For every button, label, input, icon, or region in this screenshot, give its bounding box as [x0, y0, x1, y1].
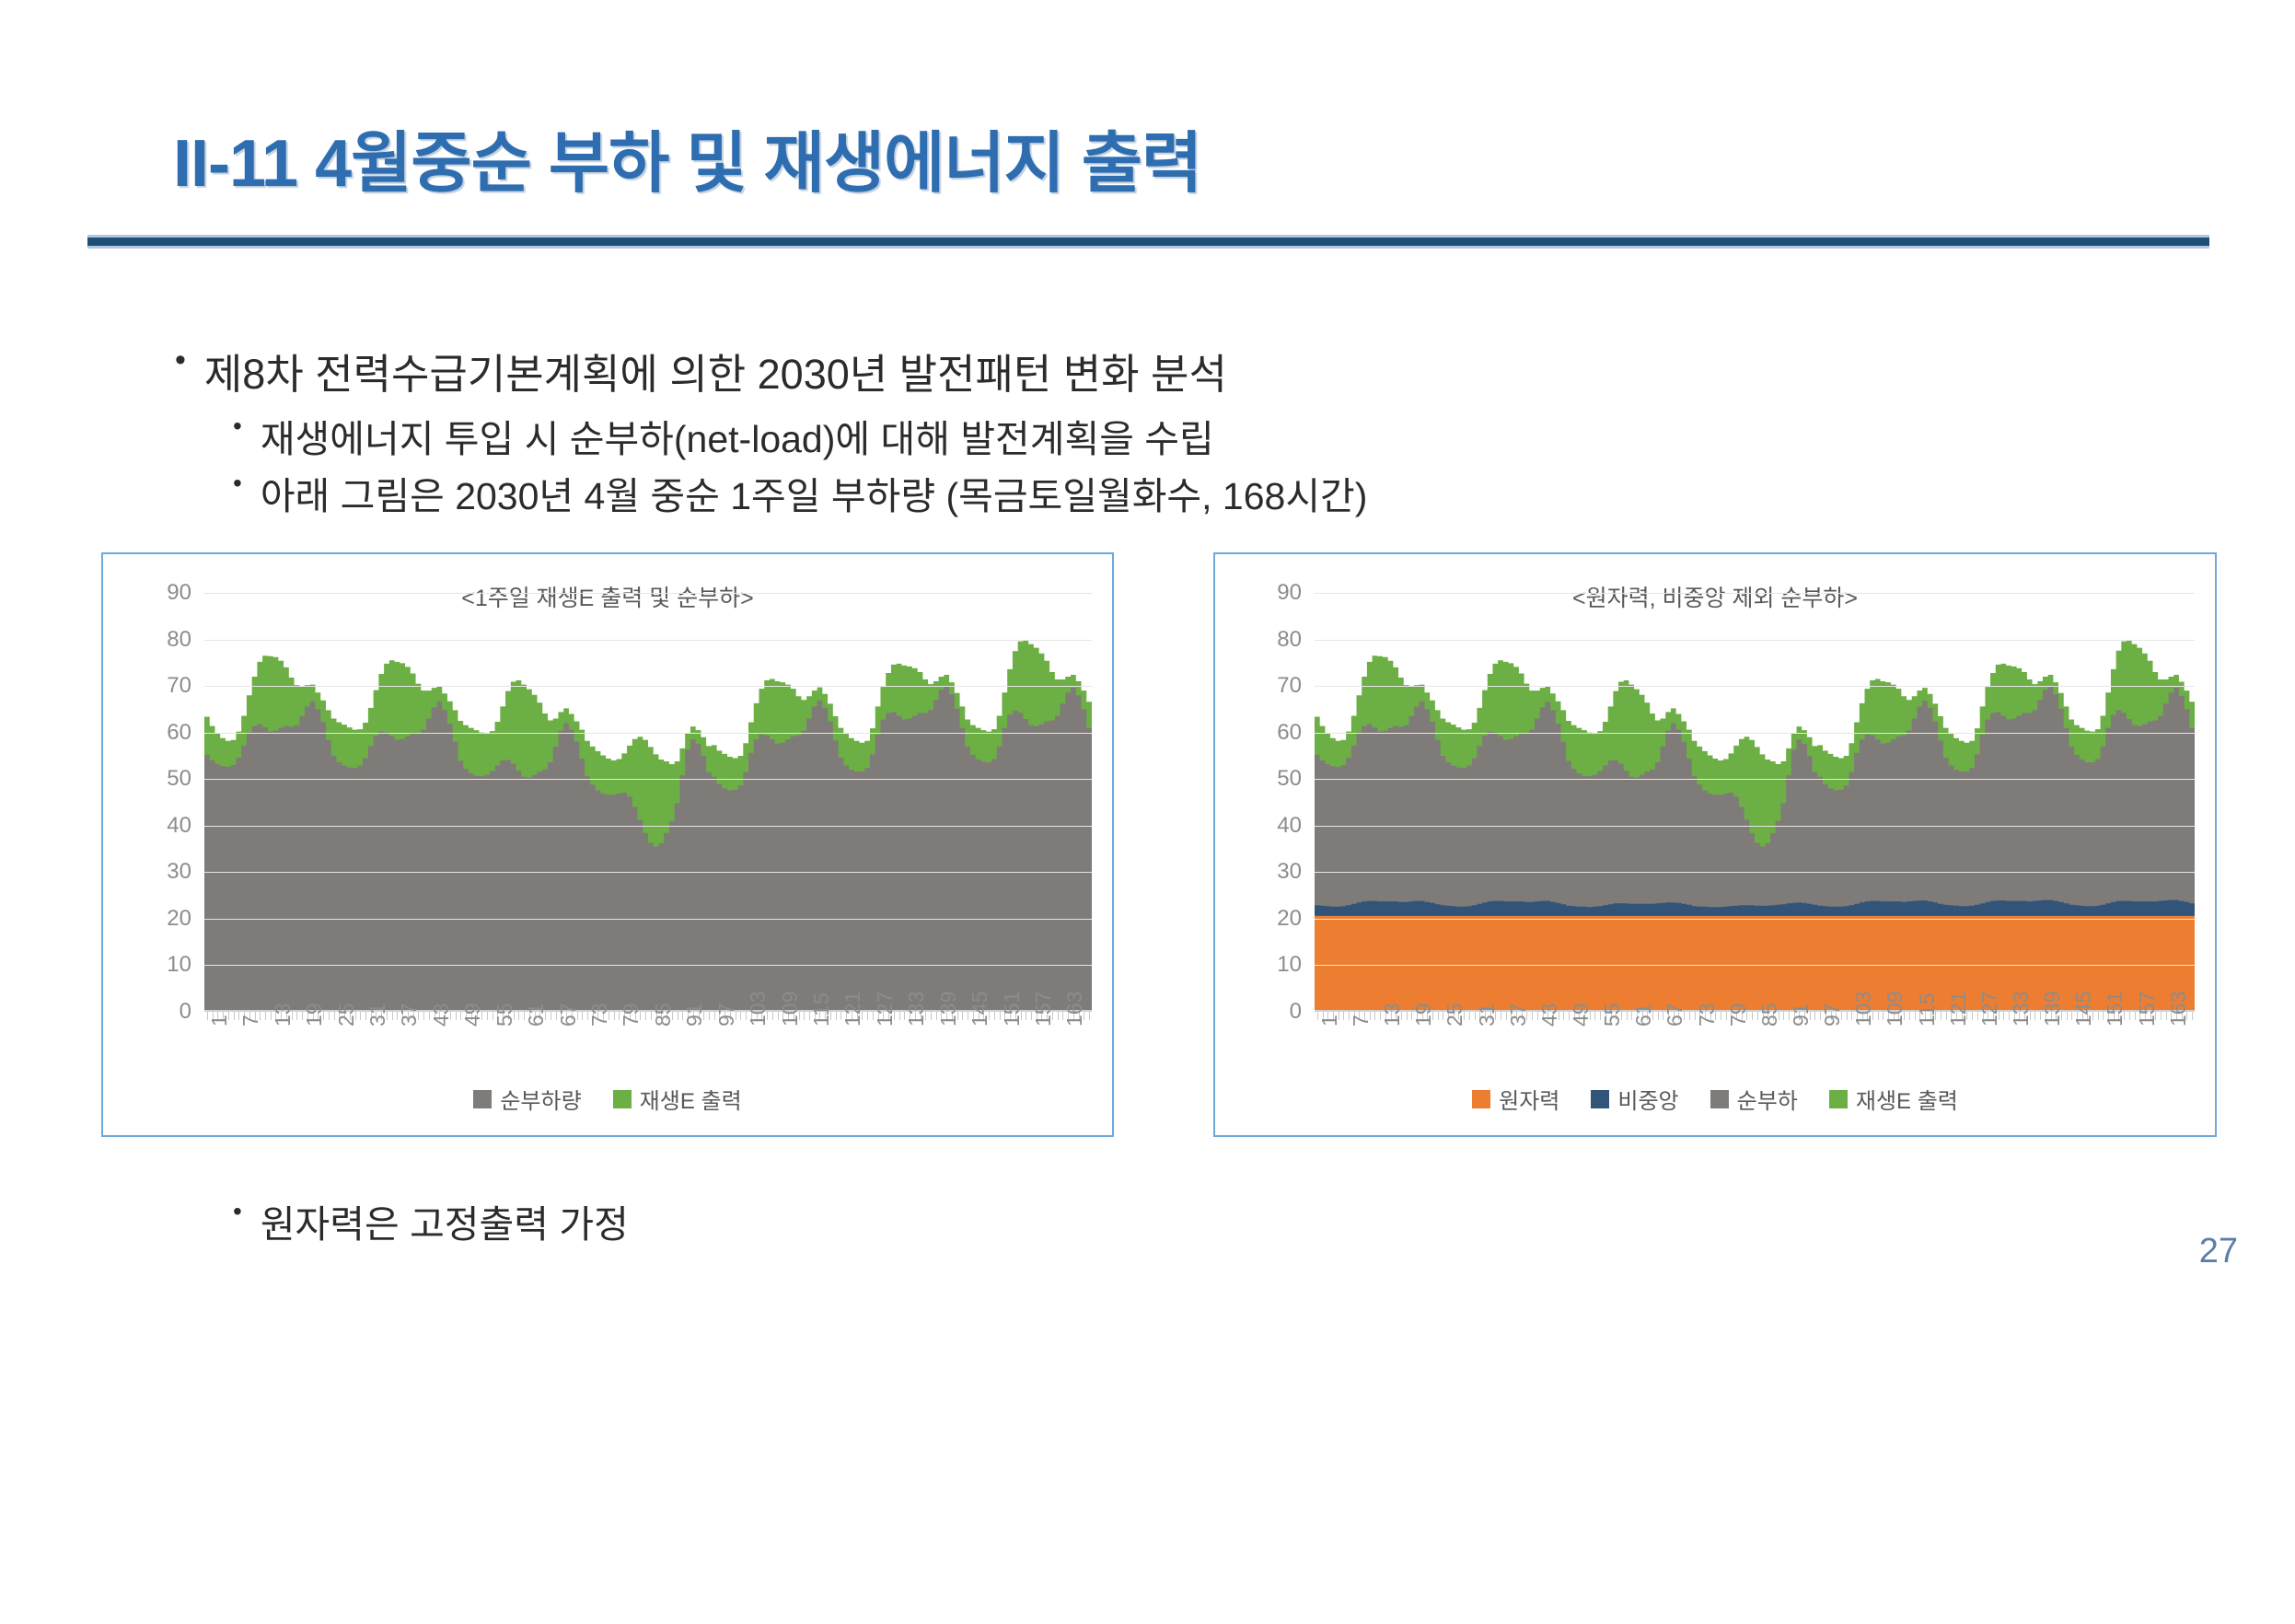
x-tick [2098, 1012, 2099, 1020]
x-axis-tick-label: 7 [238, 1015, 263, 1027]
x-axis-tick-label: 145 [968, 992, 992, 1027]
legend-item[interactable]: 비중앙 [1591, 1083, 1678, 1115]
gridline [1315, 872, 2195, 873]
gridline [204, 640, 1092, 641]
y-axis-tick-label: 70 [1277, 673, 1302, 699]
x-tick [1501, 1012, 1501, 1020]
gridline [204, 965, 1092, 966]
x-tick [994, 1012, 995, 1020]
legend-item[interactable]: 순부하량 [473, 1083, 581, 1115]
x-axis-tick-label: 55 [493, 1003, 517, 1027]
y-axis-tick-label: 10 [1277, 952, 1302, 978]
gridline [204, 872, 1092, 873]
x-tick [1752, 1012, 1753, 1020]
bullet-marker-icon: • [233, 413, 242, 439]
x-tick [2034, 1012, 2035, 1020]
x-axis-tick-label: 37 [397, 1003, 422, 1027]
x-tick [1783, 1012, 1784, 1020]
x-tick [1721, 1012, 1721, 1020]
legend-item[interactable]: 재생E 출력 [1829, 1083, 1958, 1115]
x-axis-tick-label: 109 [778, 992, 803, 1027]
x-axis-tick-label: 73 [1695, 1003, 1720, 1027]
chart-legend: 순부하량재생E 출력 [103, 1083, 1112, 1115]
legend-swatch-icon [473, 1090, 492, 1108]
bullet-text: 원자력은 고정출력 가정 [261, 1193, 629, 1248]
x-tick [360, 1012, 361, 1020]
bullet-text: 제8차 전력수급기본계획에 의한 2030년 발전패턴 변화 분석 [204, 341, 1227, 400]
x-axis-tick-label: 79 [619, 1003, 643, 1027]
x-axis-tick-label: 97 [1820, 1003, 1845, 1027]
legend-label: 원자력 [1499, 1083, 1559, 1115]
x-axis-tick-label: 133 [2009, 992, 2034, 1027]
x-axis-tick-label: 163 [1062, 992, 1087, 1027]
gridline [204, 733, 1092, 734]
plot-area: 1713192531374349556167737985919710310911… [204, 593, 1092, 1012]
y-axis-tick-label: 70 [167, 673, 191, 699]
legend-label: 순부하량 [500, 1083, 581, 1115]
x-tick [1847, 1012, 1848, 1020]
x-tick [867, 1012, 868, 1020]
bullet-item-4: • 원자력은 고정출력 가정 [233, 1193, 629, 1248]
x-tick [1026, 1012, 1026, 1020]
y-axis-tick-label: 0 [1290, 999, 1302, 1025]
x-axis-tick-label: 133 [904, 992, 929, 1027]
gridline [1315, 686, 2195, 687]
x-axis-tick-label: 97 [714, 1003, 739, 1027]
y-axis-tick-label: 60 [1277, 720, 1302, 746]
gridline [204, 1012, 1092, 1013]
legend-label: 순부하 [1737, 1083, 1798, 1115]
gridline [204, 779, 1092, 780]
x-tick [1627, 1012, 1628, 1020]
x-tick [487, 1012, 488, 1020]
x-tick [234, 1012, 235, 1020]
x-tick [1089, 1012, 1090, 1020]
y-axis-tick-label: 60 [167, 720, 191, 746]
y-axis-tick-label: 40 [1277, 813, 1302, 839]
x-tick [1658, 1012, 1659, 1020]
x-tick [296, 1012, 297, 1020]
x-tick [1941, 1012, 1941, 1020]
x-axis-tick-label: 31 [1475, 1003, 1500, 1027]
legend-swatch-icon [1591, 1090, 1609, 1108]
y-axis-tick-label: 50 [1277, 766, 1302, 792]
bullet-marker-icon: • [233, 470, 242, 496]
chart-panel-renewable-netload: <1주일 재생E 출력 및 순부하> 171319253137434955616… [101, 552, 1114, 1137]
y-axis-tick-label: 0 [180, 999, 191, 1025]
x-axis-tick-label: 67 [1663, 1003, 1687, 1027]
x-axis-tick-label: 157 [1031, 992, 1056, 1027]
y-axis-tick-label: 90 [1277, 580, 1302, 606]
x-tick [1689, 1012, 1690, 1020]
x-axis-tick-label: 73 [587, 1003, 612, 1027]
gridline [1315, 733, 2195, 734]
legend-swatch-icon [1829, 1090, 1848, 1108]
x-tick [678, 1012, 678, 1020]
x-axis-tick-label: 55 [1600, 1003, 1625, 1027]
legend-swatch-icon [1710, 1090, 1729, 1108]
x-tick [329, 1012, 330, 1020]
bullet-text: 재생에너지 투입 시 순부하(net-load)에 대해 발전계획을 수립 [261, 408, 1214, 463]
x-tick [899, 1012, 900, 1020]
x-tick [804, 1012, 805, 1020]
y-axis-tick-label: 30 [167, 859, 191, 885]
y-axis-tick-label: 90 [167, 580, 191, 606]
gridline [1315, 826, 2195, 827]
bullet-item-2: • 재생에너지 투입 시 순부하(net-load)에 대해 발전계획을 수립 [233, 408, 1214, 463]
x-axis-tick-label: 43 [429, 1003, 454, 1027]
bullet-text: 아래 그림은 2030년 4월 중순 1주일 부하량 (목금토일월화수, 168… [261, 465, 1368, 520]
x-tick [772, 1012, 773, 1020]
bullet-item-1: • 제8차 전력수급기본계획에 의한 2030년 발전패턴 변화 분석 [175, 341, 1227, 400]
plot-area: 1713192531374349556167737985919710310911… [1315, 593, 2195, 1012]
y-axis-tick-label: 80 [1277, 627, 1302, 653]
bullet-marker-icon: • [233, 1199, 242, 1224]
y-axis-tick-label: 50 [167, 766, 191, 792]
x-axis-tick-label: 151 [1000, 992, 1025, 1027]
x-axis-tick-label: 91 [682, 1003, 707, 1027]
title-divider [87, 235, 2209, 249]
x-tick [962, 1012, 963, 1020]
x-axis-tick-label: 115 [1915, 992, 1940, 1027]
x-tick [709, 1012, 710, 1020]
x-tick [1814, 1012, 1815, 1020]
y-axis-tick-label: 20 [1277, 906, 1302, 932]
x-tick [931, 1012, 932, 1020]
legend-swatch-icon [1472, 1090, 1490, 1108]
x-axis-tick-label: 49 [1569, 1003, 1594, 1027]
x-axis-tick-label: 79 [1726, 1003, 1751, 1027]
x-axis-tick-label: 31 [365, 1003, 390, 1027]
x-axis-tick-label: 61 [1631, 1003, 1656, 1027]
x-tick [2129, 1012, 2130, 1020]
x-axis-tick-label: 163 [2166, 992, 2191, 1027]
x-axis-tick-label: 67 [556, 1003, 581, 1027]
x-axis-tick-label: 145 [2071, 992, 2096, 1027]
legend-swatch-icon [613, 1090, 632, 1108]
x-axis-tick-label: 7 [1349, 1015, 1374, 1027]
legend-label: 비중앙 [1617, 1083, 1678, 1115]
x-tick [423, 1012, 424, 1020]
chart-legend: 원자력비중앙순부하재생E 출력 [1215, 1083, 2215, 1115]
x-axis-tick-label: 103 [1851, 992, 1876, 1027]
x-axis-tick-label: 43 [1537, 1003, 1562, 1027]
x-tick [1407, 1012, 1408, 1020]
gridline [1315, 919, 2195, 920]
x-axis-tick-label: 49 [460, 1003, 485, 1027]
x-axis-tick-label: 1 [207, 1015, 232, 1027]
bullet-marker-icon: • [175, 344, 186, 376]
x-axis-tick-label: 61 [524, 1003, 549, 1027]
gridline [204, 593, 1092, 594]
x-axis-tick-label: 91 [1789, 1003, 1814, 1027]
x-tick [1374, 1012, 1375, 1020]
x-axis-tick-label: 19 [1411, 1003, 1436, 1027]
x-tick [1343, 1012, 1344, 1020]
x-axis-tick-label: 13 [1380, 1003, 1405, 1027]
gridline [1315, 640, 2195, 641]
x-tick [1438, 1012, 1439, 1020]
y-axis-tick-label: 30 [1277, 859, 1302, 885]
x-tick [2003, 1012, 2004, 1020]
gridline [1315, 593, 2195, 594]
x-tick [392, 1012, 393, 1020]
x-tick [1972, 1012, 1973, 1020]
page-number: 27 [2199, 1232, 2238, 1271]
x-axis-tick-label: 121 [1946, 992, 1971, 1027]
x-tick [645, 1012, 646, 1020]
x-tick [551, 1012, 551, 1020]
x-axis-tick-label: 151 [2103, 992, 2127, 1027]
plot-canvas [1315, 593, 2195, 1012]
x-tick [1058, 1012, 1059, 1020]
x-tick [1594, 1012, 1595, 1020]
x-tick [836, 1012, 837, 1020]
x-axis-tick-label: 25 [1443, 1003, 1467, 1027]
x-axis-tick-label: 127 [873, 992, 898, 1027]
gridline [1315, 1012, 2195, 1013]
x-tick [2192, 1012, 2193, 1020]
x-tick [1878, 1012, 1879, 1020]
x-tick [456, 1012, 457, 1020]
legend-item[interactable]: 순부하 [1710, 1083, 1798, 1115]
x-tick [1563, 1012, 1564, 1020]
x-tick [1532, 1012, 1533, 1020]
legend-label: 재생E 출력 [640, 1083, 742, 1115]
x-axis-tick-label: 85 [651, 1003, 676, 1027]
plot-canvas [204, 593, 1092, 1012]
x-axis-tick-label: 127 [1977, 992, 2002, 1027]
legend-label: 재생E 출력 [1856, 1083, 1958, 1115]
x-tick [582, 1012, 583, 1020]
x-tick [1909, 1012, 1910, 1020]
x-tick [518, 1012, 519, 1020]
gridline [1315, 779, 2195, 780]
x-axis-tick-label: 139 [936, 992, 961, 1027]
x-axis-tick-label: 121 [840, 992, 865, 1027]
x-axis-tick-label: 103 [746, 992, 771, 1027]
x-tick [265, 1012, 266, 1020]
legend-item[interactable]: 재생E 출력 [613, 1083, 742, 1115]
bullet-item-3: • 아래 그림은 2030년 4월 중순 1주일 부하량 (목금토일월화수, 1… [233, 465, 1367, 520]
y-axis-tick-label: 10 [167, 952, 191, 978]
gridline [204, 686, 1092, 687]
gridline [204, 826, 1092, 827]
chart-panel-excluding-nuclear: <원자력, 비중앙 제외 순부하> 1713192531374349556167… [1213, 552, 2217, 1137]
x-axis-tick-label: 109 [1883, 992, 1907, 1027]
x-tick [614, 1012, 615, 1020]
x-axis-tick-label: 19 [302, 1003, 327, 1027]
x-tick [1469, 1012, 1470, 1020]
x-axis-tick-label: 13 [271, 1003, 296, 1027]
gridline [204, 919, 1092, 920]
x-axis-tick-label: 25 [334, 1003, 359, 1027]
gridline [1315, 965, 2195, 966]
y-axis-tick-label: 40 [167, 813, 191, 839]
x-axis-tick-label: 115 [809, 992, 834, 1027]
page-title: II-11 4월중순 부하 및 재생에너지 출력 [173, 109, 1201, 205]
x-axis-tick-label: 85 [1757, 1003, 1782, 1027]
x-tick [2161, 1012, 2162, 1020]
x-axis-tick-label: 139 [2040, 992, 2065, 1027]
x-axis-tick-label: 157 [2135, 992, 2160, 1027]
legend-item[interactable]: 원자력 [1472, 1083, 1559, 1115]
x-tick [740, 1012, 741, 1020]
x-axis-tick-label: 1 [1317, 1015, 1342, 1027]
y-axis-tick-label: 80 [167, 627, 191, 653]
x-tick [2067, 1012, 2068, 1020]
x-axis-tick-label: 37 [1506, 1003, 1531, 1027]
y-axis-tick-label: 20 [167, 906, 191, 932]
